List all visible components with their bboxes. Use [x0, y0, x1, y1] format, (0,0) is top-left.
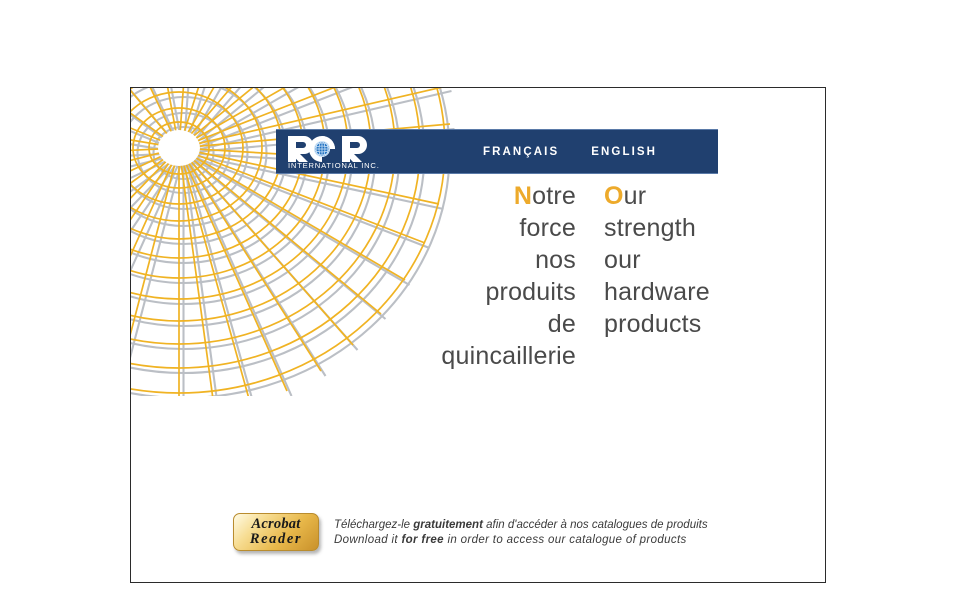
slogan-english-line-1: Our — [604, 180, 759, 212]
slogan-french: Notre force nos produits de quincailleri… — [431, 180, 576, 372]
slogan-french-line-4: produits — [431, 276, 576, 308]
acrobat-reader-caption: Téléchargez-le gratuitement afin d'accéd… — [334, 513, 708, 548]
logo-tagline: INTERNATIONAL INC. — [288, 161, 380, 170]
slogan-english-initial: O — [604, 182, 624, 210]
acrobat-caption-french-before: Téléchargez-le — [334, 519, 413, 531]
acrobat-badge-line-2: Reader — [250, 532, 302, 547]
slogan-french-initial-rest: otre — [532, 182, 576, 210]
slogan-french-line-2: force — [431, 212, 576, 244]
acrobat-caption-english-bold: for free — [401, 534, 443, 546]
slogan-english-initial-rest: ur — [624, 182, 647, 210]
slogan-french-line-6: quincaillerie — [431, 340, 576, 372]
slogan-english-line-2: strength — [604, 212, 759, 244]
nav-link-english[interactable]: ENGLISH — [591, 146, 657, 158]
acrobat-reader-badge[interactable]: Acrobat Reader — [233, 513, 319, 551]
header-bar: INTERNATIONAL INC. FRANÇAIS ENGLISH — [276, 129, 718, 174]
acrobat-caption-english-before: Download it — [334, 534, 401, 546]
slogan-french-line-3: nos — [431, 244, 576, 276]
slogan-french-line-5: de — [431, 308, 576, 340]
acrobat-caption-english: Download it for free in order to access … — [334, 533, 708, 548]
nav-link-francais[interactable]: FRANÇAIS — [483, 146, 559, 158]
slogan-french-initial: N — [514, 182, 532, 210]
acrobat-badge-line-1: Acrobat — [252, 517, 301, 532]
globe-icon — [314, 141, 329, 156]
slogan-english-line-5: products — [604, 308, 759, 340]
slogan-block: Notre force nos produits de quincailleri… — [431, 180, 759, 372]
slogan-english-line-3: our — [604, 244, 759, 276]
acrobat-caption-french-after: afin d'accéder à nos catalogues de produ… — [483, 519, 708, 531]
slogan-english-line-4: hardware — [604, 276, 759, 308]
acrobat-caption-french-bold: gratuitement — [413, 519, 483, 531]
slogan-french-line-1: Notre — [431, 180, 576, 212]
page-frame: INTERNATIONAL INC. FRANÇAIS ENGLISH Notr… — [130, 87, 826, 583]
rcr-logo[interactable]: INTERNATIONAL INC. — [286, 134, 398, 170]
language-nav: FRANÇAIS ENGLISH — [483, 146, 657, 158]
acrobat-reader-row: Acrobat Reader Téléchargez-le gratuiteme… — [233, 513, 708, 551]
acrobat-caption-french: Téléchargez-le gratuitement afin d'accéd… — [334, 518, 708, 533]
slogan-english: Our strength our hardware products — [604, 180, 759, 372]
acrobat-caption-english-after: in order to access our catalogue of prod… — [444, 534, 687, 546]
